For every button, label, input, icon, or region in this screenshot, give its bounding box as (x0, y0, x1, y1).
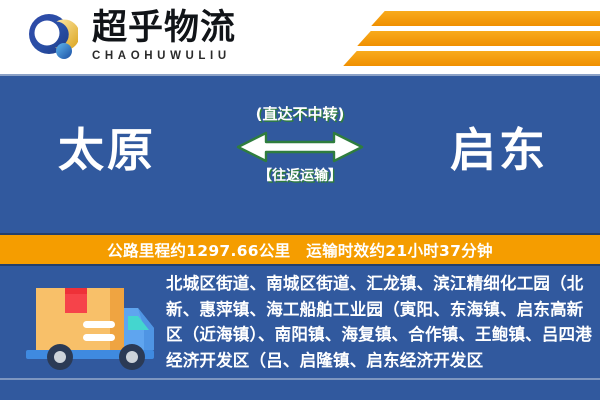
distance-duration-text: 公路里程约1297.66公里 运输时效约21小时37分钟 (107, 239, 493, 261)
roundtrip-note: 【往返运输】 (229, 167, 371, 186)
header-stripe-3 (343, 51, 600, 66)
destination-city: 启东 (450, 122, 548, 178)
header-stripe-2 (357, 31, 600, 46)
bidirectional-arrow-icon (229, 128, 371, 164)
circle-q-logo-icon (26, 12, 78, 64)
coverage-area-text: 北城区街道、南城区街道、汇龙镇、滨江精细化工园（北新、惠萍镇、海工船舶工业园（寅… (166, 271, 596, 373)
coverage-divider (0, 378, 600, 380)
origin-city: 太原 (58, 122, 156, 178)
logistics-route-poster: 超乎物流 CHAOHUWULIU 太原 (直达不中转) 【往返运输】 启东 公路… (0, 0, 600, 400)
delivery-truck-icon (22, 278, 164, 378)
header-stripe-1 (371, 11, 600, 26)
poster-header: 超乎物流 CHAOHUWULIU (0, 0, 600, 74)
brand-block: 超乎物流 CHAOHUWULIU (92, 8, 302, 62)
brand-name-en: CHAOHUWULIU (92, 50, 302, 62)
distance-duration-bar: 公路里程约1297.66公里 运输时效约21小时37分钟 (0, 233, 600, 266)
route-arrow-group: (直达不中转) 【往返运输】 (229, 104, 371, 204)
band-divider (0, 74, 600, 76)
coverage-band: 北城区街道、南城区街道、汇龙镇、滨江精细化工园（北新、惠萍镇、海工船舶工业园（寅… (0, 266, 600, 400)
direct-shipping-note: (直达不中转) (229, 104, 371, 124)
brand-name-cn: 超乎物流 (92, 8, 302, 48)
route-band: 太原 (直达不中转) 【往返运输】 启东 (0, 74, 600, 233)
